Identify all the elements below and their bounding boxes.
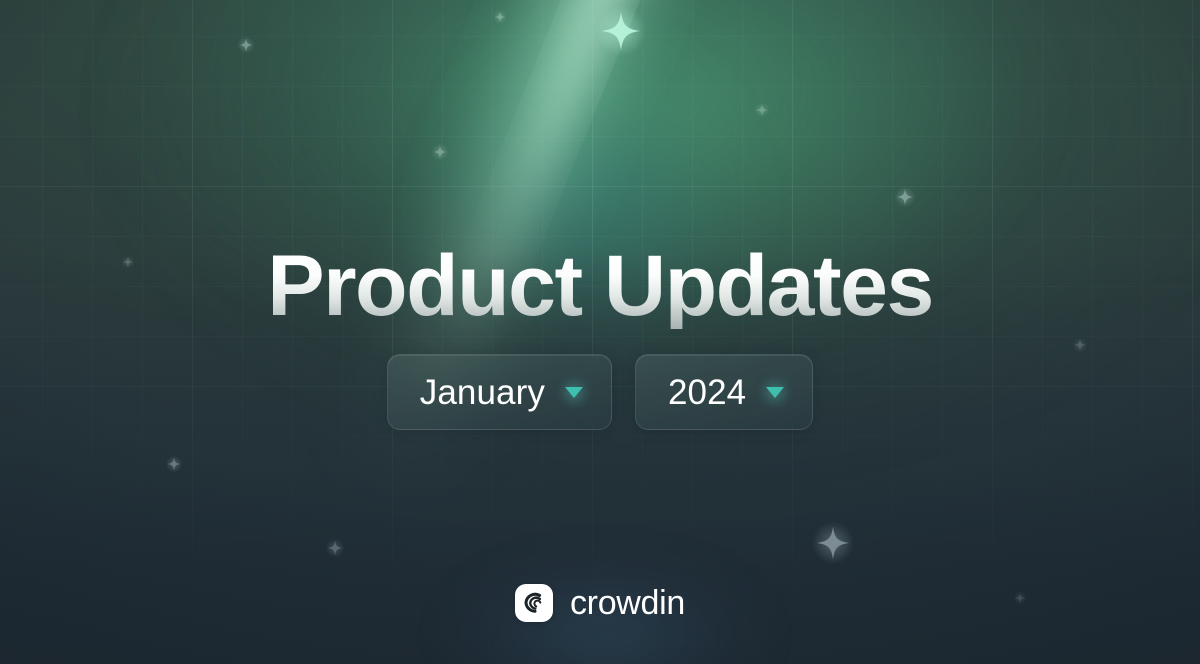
chevron-down-icon[interactable] <box>559 377 589 407</box>
period-selectors: January 2024 <box>0 354 1200 430</box>
month-dropdown-label: January <box>420 375 545 410</box>
product-updates-hero-banner: Product Updates January 2024 <box>0 0 1200 664</box>
year-dropdown-label: 2024 <box>668 375 746 410</box>
chevron-triangle <box>766 387 784 398</box>
brand-name-text: crowdin <box>570 586 685 620</box>
year-dropdown[interactable]: 2024 <box>635 354 813 430</box>
page-title: Product Updates <box>0 243 1200 329</box>
brand-logo[interactable]: crowdin <box>0 584 1200 622</box>
chevron-down-icon[interactable] <box>760 377 790 407</box>
hero-content: Product Updates January 2024 <box>0 0 1200 664</box>
month-dropdown[interactable]: January <box>387 354 612 430</box>
chevron-triangle <box>565 387 583 398</box>
crowdin-logo-icon <box>515 584 553 622</box>
